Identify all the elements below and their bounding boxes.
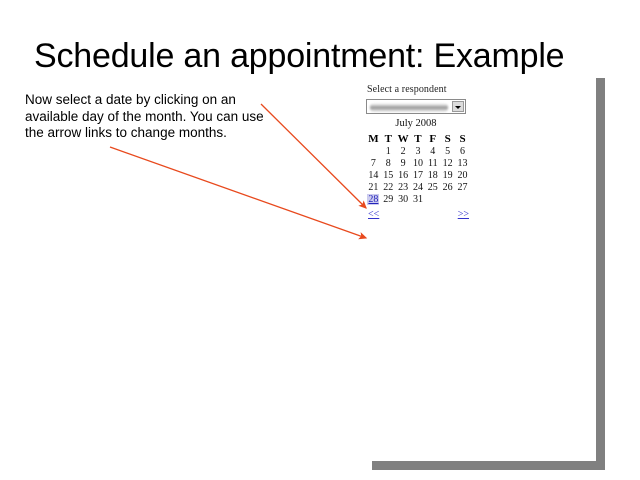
slide-shadow-bottom xyxy=(372,461,605,470)
weekday-header: T xyxy=(411,132,426,145)
calendar-day-cell: 27 xyxy=(455,181,470,193)
arrow-to-day-cell xyxy=(261,104,366,208)
calendar-week-row: 21 22 23 24 25 26 27 xyxy=(366,181,470,193)
calendar-day-cell: 1 xyxy=(381,145,396,157)
calendar-nav-row: << >> xyxy=(366,209,470,221)
calendar-day-cell xyxy=(455,193,470,205)
calendar-day-cell: 19 xyxy=(440,169,455,181)
calendar-day-cell: 8 xyxy=(381,157,396,169)
calendar-day-cell: 10 xyxy=(411,157,426,169)
slide-shadow-right xyxy=(596,78,605,470)
calendar-day-cell: 26 xyxy=(440,181,455,193)
calendar-day-cell: 22 xyxy=(381,181,396,193)
calendar-day-cell xyxy=(440,193,455,205)
prev-month-link[interactable]: << xyxy=(368,209,379,220)
calendar-day-cell: 23 xyxy=(396,181,411,193)
calendar-table: M T W T F S S 1 2 3 4 5 6 xyxy=(366,132,470,205)
slide-canvas: Schedule an appointment: Example Now sel… xyxy=(0,0,640,480)
calendar-day-cell: 31 xyxy=(411,193,426,205)
appointment-widget: Select a respondent July 2008 M T W T F … xyxy=(366,84,476,221)
respondent-select-value xyxy=(370,103,448,112)
calendar-header-row: M T W T F S S xyxy=(366,132,470,145)
calendar-week-row: 1 2 3 4 5 6 xyxy=(366,145,470,157)
calendar-day-cell: 16 xyxy=(396,169,411,181)
calendar-week-row: 7 8 9 10 11 12 13 xyxy=(366,157,470,169)
calendar-day-cell: 3 xyxy=(411,145,426,157)
calendar-day-cell xyxy=(425,193,440,205)
calendar-day-cell: 18 xyxy=(425,169,440,181)
calendar-week-row: 14 15 16 17 18 19 20 xyxy=(366,169,470,181)
calendar-day-cell: 25 xyxy=(425,181,440,193)
calendar-day-cell: 29 xyxy=(381,193,396,205)
calendar-day-cell: 5 xyxy=(440,145,455,157)
weekday-header: W xyxy=(396,132,411,145)
calendar-day-cell: 24 xyxy=(411,181,426,193)
calendar-day-cell: 2 xyxy=(396,145,411,157)
page-title: Schedule an appointment: Example xyxy=(34,37,614,76)
instruction-text: Now select a date by clicking on an avai… xyxy=(25,92,273,142)
calendar-day-cell: 11 xyxy=(425,157,440,169)
calendar-day-cell: 21 xyxy=(366,181,381,193)
calendar-day-cell: 4 xyxy=(425,145,440,157)
respondent-select[interactable] xyxy=(366,99,466,114)
calendar-day-cell: 20 xyxy=(455,169,470,181)
calendar-day-cell: 13 xyxy=(455,157,470,169)
respondent-label: Select a respondent xyxy=(367,84,476,95)
calendar-day-cell: 15 xyxy=(381,169,396,181)
calendar-month-label: July 2008 xyxy=(366,118,466,129)
next-month-link[interactable]: >> xyxy=(458,209,469,220)
calendar-day-link-selected[interactable]: 28 xyxy=(367,194,379,205)
calendar-day-cell: 7 xyxy=(366,157,381,169)
calendar-day-cell: 17 xyxy=(411,169,426,181)
calendar-day-cell xyxy=(366,145,381,157)
calendar-day-cell: 6 xyxy=(455,145,470,157)
calendar-day-cell: 14 xyxy=(366,169,381,181)
calendar-week-row: 28 29 30 31 xyxy=(366,193,470,205)
arrow-to-month-links xyxy=(110,147,366,238)
calendar-day-cell: 12 xyxy=(440,157,455,169)
weekday-header: S xyxy=(455,132,470,145)
weekday-header: F xyxy=(425,132,440,145)
weekday-header: M xyxy=(366,132,381,145)
weekday-header: S xyxy=(440,132,455,145)
weekday-header: T xyxy=(381,132,396,145)
calendar-day-cell-selected[interactable]: 28 xyxy=(366,193,381,205)
chevron-down-icon[interactable] xyxy=(452,101,464,112)
calendar-day-cell: 9 xyxy=(396,157,411,169)
calendar-day-cell: 30 xyxy=(396,193,411,205)
